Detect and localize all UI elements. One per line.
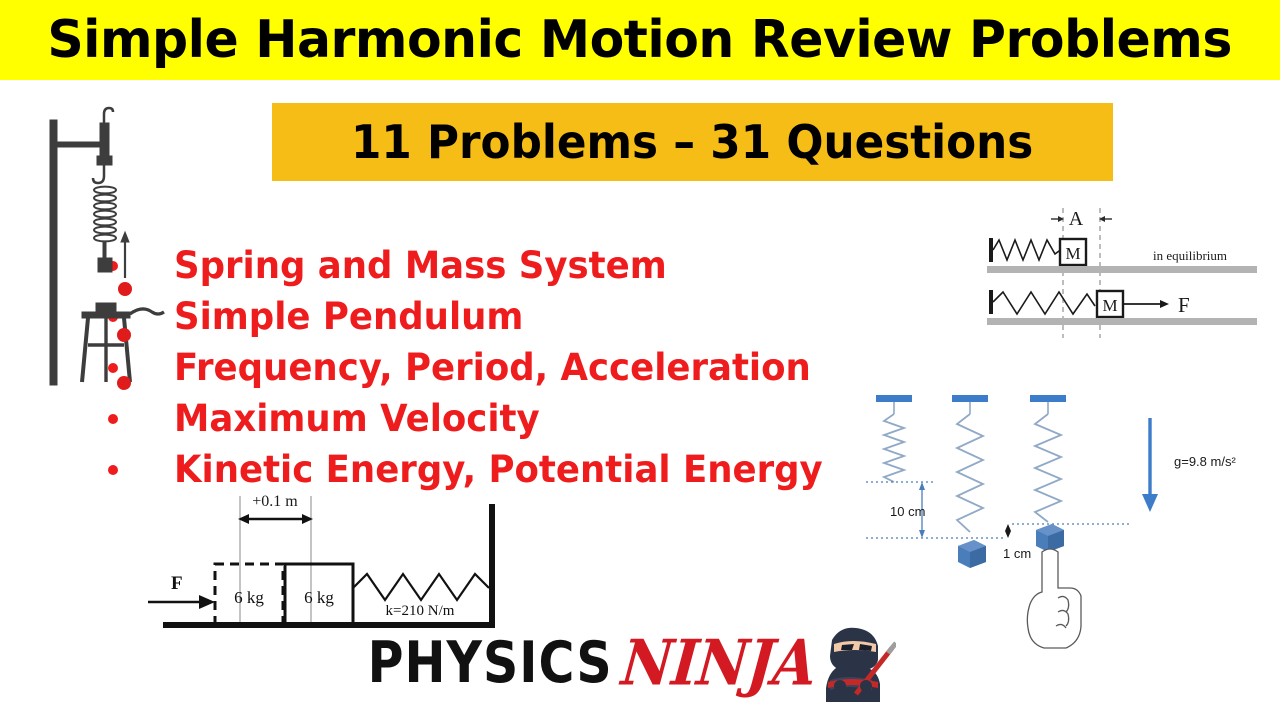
gravity-label: g=9.8 m/s²: [1174, 454, 1236, 469]
mass-label-rest: 6 kg: [304, 588, 334, 607]
hanging-springs-figure: 10 cm 1 cm: [862, 360, 1280, 650]
list-item: Spring and Mass System: [108, 240, 878, 291]
topic-label: Simple Pendulum: [174, 295, 523, 338]
extra-label: 1 cm: [1003, 546, 1031, 561]
hand-icon: [1027, 549, 1081, 648]
title-banner: Simple Harmonic Motion Review Problems: [0, 0, 1280, 80]
marker-dot-icon: [117, 376, 131, 390]
displacement-label: +0.1 m: [252, 493, 298, 510]
force-label: F: [171, 573, 183, 594]
block-icon: [958, 540, 986, 568]
subtitle-text: 11 Problems – 31 Questions: [351, 115, 1033, 169]
force-label: F: [1178, 293, 1190, 317]
mass-label-displaced: 6 kg: [234, 588, 264, 607]
bullet-dot-icon: [108, 465, 118, 475]
spring-mass-horizontal-figure: A M in equilibrium M F: [975, 198, 1275, 343]
topic-label: Maximum Velocity: [174, 397, 540, 440]
bullet-dot-icon: [108, 414, 118, 424]
topics-list: Spring and Mass System Simple Pendulum F…: [108, 240, 878, 495]
stretch-label: 10 cm: [890, 504, 925, 519]
marker-dot-icon: [117, 328, 131, 342]
page-title: Simple Harmonic Motion Review Problems: [48, 10, 1233, 70]
list-item: Maximum Velocity: [108, 393, 878, 444]
marker-dot-icon: [118, 282, 132, 296]
logo-primary-text: PHYSICS: [368, 630, 613, 696]
topic-label: Spring and Mass System: [174, 244, 667, 287]
list-item: Frequency, Period, Acceleration: [108, 342, 878, 393]
amplitude-label: A: [1069, 208, 1084, 230]
mass-label-bottom: M: [1102, 296, 1117, 315]
brand-logo: PHYSICS NINJA: [370, 628, 896, 698]
logo-secondary-text: NINJA: [619, 626, 819, 700]
mass-label-top: M: [1065, 244, 1080, 263]
list-item: Simple Pendulum: [108, 291, 878, 342]
slide-canvas: Simple Harmonic Motion Review Problems 1…: [0, 0, 1280, 720]
topic-label: Kinetic Energy, Potential Energy: [174, 448, 823, 491]
spring-constant-label: k=210 N/m: [386, 603, 455, 619]
lab-stand-figure: [12, 90, 182, 400]
subtitle-banner: 11 Problems – 31 Questions: [272, 103, 1113, 181]
topic-label: Frequency, Period, Acceleration: [174, 346, 811, 389]
block-spring-figure: +0.1 m F 6 kg 6 kg k=210 N/m: [145, 488, 525, 638]
block-icon: [1036, 524, 1064, 552]
ninja-mascot-icon: [810, 618, 896, 709]
equilibrium-label: in equilibrium: [1153, 248, 1227, 263]
